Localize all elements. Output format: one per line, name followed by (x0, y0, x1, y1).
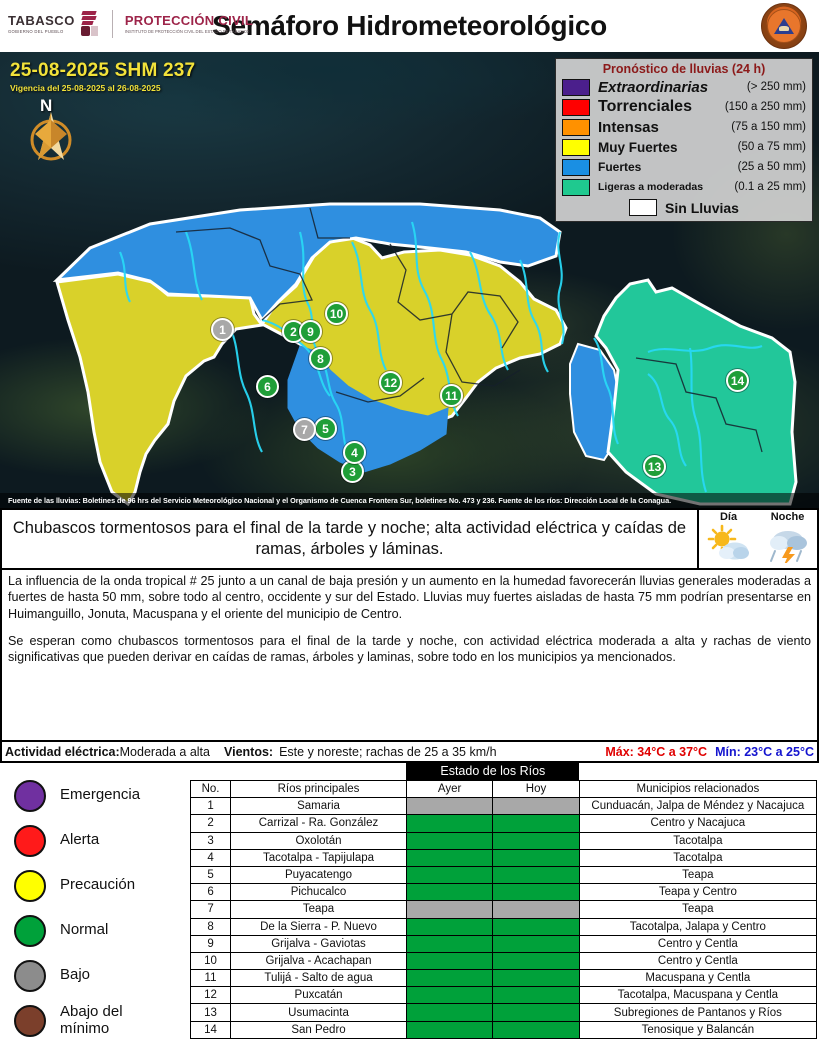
alert-message: Chubascos tormentosos para el final de l… (2, 510, 699, 568)
row-no: 10 (191, 952, 231, 969)
rivers-table: No. Ríos principales Ayer Hoy Municipios… (190, 780, 817, 1039)
row-river: Puyacatengo (231, 866, 407, 883)
legend-swatch-extraordinarias (562, 79, 590, 96)
row-river: Tulijá - Salto de agua (231, 970, 407, 987)
electric-activity-value: Moderada a alta (120, 745, 210, 759)
status-key-precaucion: Precaución (14, 863, 190, 908)
status-label-alerta: Alerta (60, 832, 99, 849)
legend-range-extraordinarias: (> 250 mm) (747, 81, 806, 93)
rivers-group-header: Estado de los Ríos (406, 763, 579, 780)
legend-label-muy-fuertes: Muy Fuertes (590, 140, 738, 155)
row-municipios: Teapa y Centro (579, 884, 816, 901)
logo-proteccion-civil-sublabel: INSTITUTO DE PROTECCIÓN CIVIL DEL ESTADO… (125, 29, 253, 35)
status-label-emergencia: Emergencia (60, 787, 140, 804)
rivers-table-body: 1SamariaCunduacán, Jalpa de Méndez y Nac… (191, 798, 817, 1039)
legend-item-extraordinarias: Extraordinarias (> 250 mm) (562, 77, 806, 97)
status-dot-alerta (14, 825, 46, 857)
map-source-credit: Fuente de las lluvias: Boletines de 96 h… (0, 493, 819, 508)
row-municipios: Subregiones de Pantanos y Ríos (579, 1004, 816, 1021)
bottom-section: Emergencia Alerta Precaución Normal Bajo… (0, 763, 819, 1035)
legend-range-intensas: (75 a 150 mm) (731, 121, 806, 133)
row-municipios: Centro y Centla (579, 935, 816, 952)
river-marker-8[interactable]: 8 (309, 347, 332, 370)
row-municipios: Centro y Centla (579, 952, 816, 969)
row-municipios: Macuspana y Centla (579, 970, 816, 987)
night-forecast: Noche (758, 510, 817, 568)
row-no: 12 (191, 987, 231, 1004)
river-marker-11[interactable]: 11 (440, 384, 463, 407)
electric-activity-label: Actividad eléctrica: (5, 745, 120, 759)
day-label: Día (720, 511, 737, 523)
legend-item-ligeras-moderadas: Ligeras a moderadas (0.1 a 25 mm) (562, 177, 806, 197)
row-status-hoy (493, 832, 579, 849)
rainfall-forecast-map: 25-08-2025 SHM 237 Vigencia del 25-08-20… (0, 52, 819, 510)
river-marker-14[interactable]: 14 (726, 369, 749, 392)
legend-range-fuertes: (25 a 50 mm) (738, 161, 806, 173)
status-label-abajo-minimo: Abajo del mínimo (60, 1004, 123, 1037)
col-header-municipios: Municipios relacionados (579, 781, 816, 798)
river-marker-5[interactable]: 5 (314, 417, 337, 440)
row-status-hoy (493, 952, 579, 969)
map-date-code: 25-08-2025 SHM 237 (10, 60, 195, 82)
legend-label-fuertes: Fuertes (590, 160, 738, 174)
row-no: 9 (191, 935, 231, 952)
row-river: Carrizal - Ra. González (231, 815, 407, 832)
row-status-ayer (406, 918, 492, 935)
row-status-ayer (406, 866, 492, 883)
row-status-hoy (493, 884, 579, 901)
page-header: TABASCO GOBIERNO DEL PUEBLO PROTECCIÓN C… (0, 0, 819, 52)
row-municipios: Teapa (579, 866, 816, 883)
river-marker-1[interactable]: 1 (211, 318, 234, 341)
river-marker-10[interactable]: 10 (325, 302, 348, 325)
row-status-hoy (493, 815, 579, 832)
row-no: 7 (191, 901, 231, 918)
row-status-ayer (406, 832, 492, 849)
table-row: 1SamariaCunduacán, Jalpa de Méndez y Nac… (191, 798, 817, 815)
row-no: 5 (191, 866, 231, 883)
row-municipios: Centro y Nacajuca (579, 815, 816, 832)
region-ligeras-moderadas-east (596, 280, 796, 504)
status-label-bajo: Bajo (60, 967, 90, 984)
table-row: 7TeapaTeapa (191, 901, 817, 918)
row-status-hoy (493, 1004, 579, 1021)
conditions-status-bar: Actividad eléctrica: Moderada a alta Vie… (0, 742, 819, 763)
river-marker-7[interactable]: 7 (293, 418, 316, 441)
wind-label: Vientos: (224, 745, 273, 759)
status-dot-precaucion (14, 870, 46, 902)
row-status-ayer (406, 1004, 492, 1021)
row-river: De la Sierra - P. Nuevo (231, 918, 407, 935)
row-river: Oxolotán (231, 832, 407, 849)
compass-north-icon: N (24, 98, 78, 164)
legend-label-ligeras-moderadas: Ligeras a moderadas (590, 181, 734, 193)
row-status-ayer (406, 970, 492, 987)
river-marker-4[interactable]: 4 (343, 441, 366, 464)
river-marker-9[interactable]: 9 (299, 320, 322, 343)
row-status-hoy (493, 970, 579, 987)
legend-swatch-muy-fuertes (562, 139, 590, 156)
min-temperature: Mín: 23°C a 25°C (715, 745, 814, 759)
row-status-hoy (493, 987, 579, 1004)
legend-item-muy-fuertes: Muy Fuertes (50 a 75 mm) (562, 137, 806, 157)
description-paragraph-2: Se esperan como chubascos tormentosos pa… (8, 633, 811, 666)
legend-range-torrenciales: (150 a 250 mm) (725, 101, 806, 113)
river-marker-12[interactable]: 12 (379, 371, 402, 394)
table-header-row: No. Ríos principales Ayer Hoy Municipios… (191, 781, 817, 798)
status-dot-bajo (14, 960, 46, 992)
row-river: Puxcatán (231, 987, 407, 1004)
thunderstorm-cloud-icon (764, 523, 812, 563)
tabasco-government-logo: TABASCO GOBIERNO DEL PUEBLO PROTECCIÓN C… (8, 10, 253, 38)
row-river: Grijalva - Acachapan (231, 952, 407, 969)
col-header-rio: Ríos principales (231, 781, 407, 798)
row-municipios: Tacotalpa, Macuspana y Centla (579, 987, 816, 1004)
row-status-ayer (406, 815, 492, 832)
row-status-ayer (406, 901, 492, 918)
row-river: Samaria (231, 798, 407, 815)
row-river: Grijalva - Gaviotas (231, 935, 407, 952)
tabasco-emblem-icon (80, 11, 100, 37)
status-key-abajo-minimo: Abajo del mínimo (14, 998, 190, 1043)
table-row: 13UsumacintaSubregiones de Pantanos y Rí… (191, 1004, 817, 1021)
proteccion-civil-seal-icon (761, 3, 807, 49)
max-temperature: Máx: 34°C a 37°C (605, 745, 707, 759)
row-river: Tacotalpa - Tapijulapa (231, 849, 407, 866)
river-marker-6[interactable]: 6 (256, 375, 279, 398)
legend-item-torrenciales: Torrenciales (150 a 250 mm) (562, 97, 806, 117)
river-marker-13[interactable]: 13 (643, 455, 666, 478)
legend-item-intensas: Intensas (75 a 150 mm) (562, 117, 806, 137)
status-key-normal: Normal (14, 908, 190, 953)
row-no: 3 (191, 832, 231, 849)
col-header-no: No. (191, 781, 231, 798)
status-dot-abajo-minimo (14, 1005, 46, 1037)
row-status-ayer (406, 798, 492, 815)
table-row: 2Carrizal - Ra. GonzálezCentro y Nacajuc… (191, 815, 817, 832)
table-row: 9Grijalva - GaviotasCentro y Centla (191, 935, 817, 952)
row-river: Usumacinta (231, 1004, 407, 1021)
legend-swatch-torrenciales (562, 99, 590, 116)
col-header-ayer: Ayer (406, 781, 492, 798)
row-status-hoy (493, 935, 579, 952)
row-status-hoy (493, 849, 579, 866)
row-no: 1 (191, 798, 231, 815)
status-dot-normal (14, 915, 46, 947)
map-validity: Vigencia del 25-08-2025 al 26-08-2025 (10, 83, 195, 93)
row-status-ayer (406, 884, 492, 901)
status-dot-emergencia (14, 780, 46, 812)
table-row: 3OxolotánTacotalpa (191, 832, 817, 849)
row-status-ayer (406, 849, 492, 866)
logo-tabasco-label: TABASCO (8, 14, 75, 27)
wind-value: Este y noreste; rachas de 25 a 35 km/h (279, 745, 496, 759)
row-municipios: Tacotalpa (579, 849, 816, 866)
row-no: 2 (191, 815, 231, 832)
table-row: 11Tulijá - Salto de aguaMacuspana y Cent… (191, 970, 817, 987)
river-status-legend: Emergencia Alerta Precaución Normal Bajo… (0, 763, 190, 1035)
legend-label-sin-lluvias: Sin Lluvias (665, 200, 739, 216)
night-label: Noche (771, 511, 805, 523)
day-night-icons: Día Noche (699, 510, 817, 568)
description-paragraph-1: La influencia de la onda tropical # 25 j… (8, 573, 811, 622)
logo-divider (112, 10, 113, 38)
legend-title: Pronóstico de lluvias (24 h) (562, 62, 806, 76)
row-status-ayer (406, 935, 492, 952)
table-row: 8De la Sierra - P. NuevoTacotalpa, Jalap… (191, 918, 817, 935)
logo-tabasco-sublabel: GOBIERNO DEL PUEBLO (8, 29, 75, 34)
row-status-hoy (493, 918, 579, 935)
row-status-hoy (493, 798, 579, 815)
row-no: 11 (191, 970, 231, 987)
row-municipios: Cunduacán, Jalpa de Méndez y Nacajuca (579, 798, 816, 815)
sun-behind-cloud-icon (705, 523, 753, 563)
status-key-emergencia: Emergencia (14, 773, 190, 818)
map-date-banner: 25-08-2025 SHM 237 Vigencia del 25-08-20… (10, 60, 195, 93)
row-municipios: Teapa (579, 901, 816, 918)
row-status-ayer (406, 952, 492, 969)
row-river: Pichucalco (231, 884, 407, 901)
legend-swatch-sin-lluvias (629, 199, 657, 216)
row-river: Teapa (231, 901, 407, 918)
table-row: 6PichucalcoTeapa y Centro (191, 884, 817, 901)
table-row: 12PuxcatánTacotalpa, Macuspana y Centla (191, 987, 817, 1004)
row-no: 13 (191, 1004, 231, 1021)
legend-item-sin-lluvias: Sin Lluvias (562, 199, 806, 216)
col-header-hoy: Hoy (493, 781, 579, 798)
row-no: 8 (191, 918, 231, 935)
logo-proteccion-civil-label: PROTECCIÓN CIVIL (125, 14, 253, 27)
legend-swatch-ligeras-moderadas (562, 179, 590, 196)
legend-swatch-fuertes (562, 159, 590, 176)
day-forecast: Día (699, 510, 758, 568)
row-municipios: Tacotalpa (579, 832, 816, 849)
region-muy-fuertes-west (57, 274, 262, 504)
legend-range-ligeras-moderadas: (0.1 a 25 mm) (734, 181, 806, 193)
row-status-hoy (493, 901, 579, 918)
forecast-description: La influencia de la onda tropical # 25 j… (0, 570, 819, 742)
status-label-normal: Normal (60, 922, 108, 939)
row-no: 4 (191, 849, 231, 866)
status-key-alerta: Alerta (14, 818, 190, 863)
legend-swatch-intensas (562, 119, 590, 136)
legend-item-fuertes: Fuertes (25 a 50 mm) (562, 157, 806, 177)
legend-label-extraordinarias: Extraordinarias (590, 79, 747, 96)
table-row: 4Tacotalpa - TapijulapaTacotalpa (191, 849, 817, 866)
row-no: 6 (191, 884, 231, 901)
row-municipios: Tacotalpa, Jalapa y Centro (579, 918, 816, 935)
table-row: 10Grijalva - AcachapanCentro y Centla (191, 952, 817, 969)
table-row: 5PuyacatengoTeapa (191, 866, 817, 883)
row-status-hoy (493, 866, 579, 883)
rivers-table-container: Estado de los Ríos No. Ríos principales … (190, 763, 819, 1035)
legend-label-intensas: Intensas (590, 119, 731, 136)
status-label-precaucion: Precaución (60, 877, 135, 894)
alert-message-box: Chubascos tormentosos para el final de l… (0, 510, 819, 570)
status-key-bajo: Bajo (14, 953, 190, 998)
rainfall-legend: Pronóstico de lluvias (24 h) Extraordina… (555, 58, 813, 222)
legend-label-torrenciales: Torrenciales (590, 98, 725, 116)
legend-range-muy-fuertes: (50 a 75 mm) (738, 141, 806, 153)
row-status-ayer (406, 987, 492, 1004)
